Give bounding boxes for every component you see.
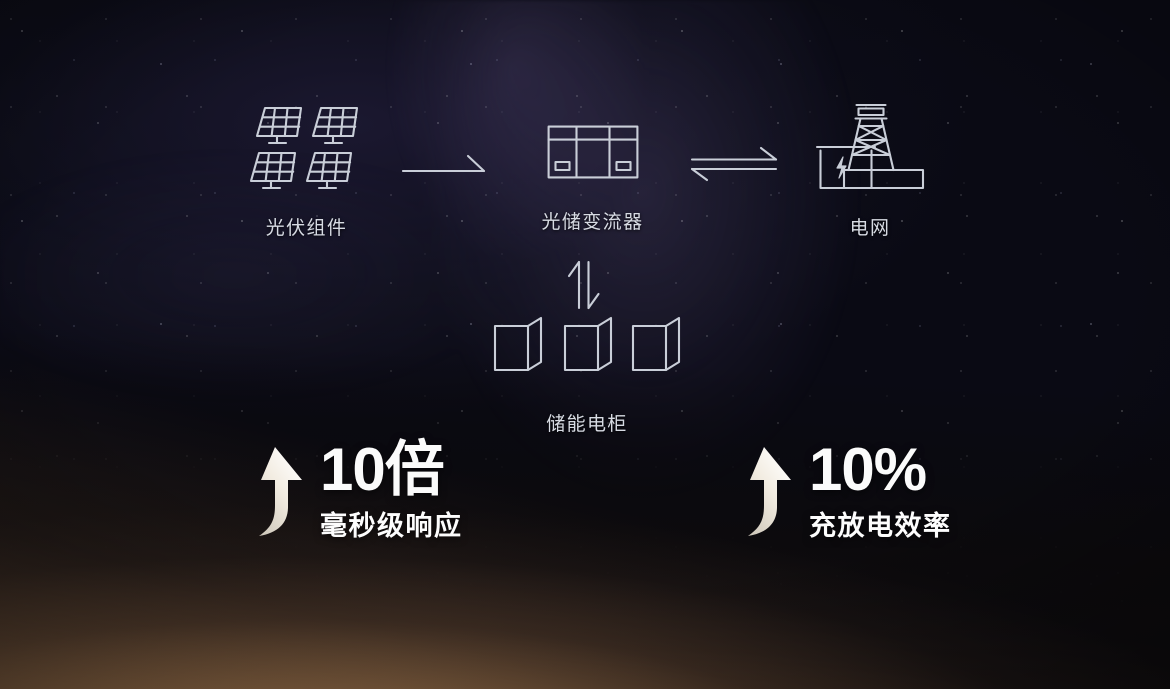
up-arrow-icon (244, 445, 308, 542)
arrow-bidirectional-icon (688, 169, 780, 186)
connector-inverter-to-grid (688, 146, 780, 187)
stat-efficiency-caption: 充放电效率 (809, 504, 952, 543)
arrow-right-icon (402, 165, 486, 182)
up-arrow-icon (733, 445, 797, 542)
diagram-node-inverter-label: 光储变流器 (505, 207, 680, 234)
stat-response-text: 10倍 毫秒级响应 (320, 441, 463, 543)
diagram-node-storage-label: 储能电柜 (487, 409, 687, 436)
diagram-node-pv-label: 光伏组件 (224, 213, 389, 240)
stat-efficiency[interactable]: 10% 充放电效率 (733, 441, 952, 543)
solar-panel-icon (224, 100, 389, 197)
stat-response-value: 10倍 (320, 441, 463, 499)
energy-system-diagram: 光伏组件 光储变流器 (0, 0, 1170, 689)
connector-pv-to-inverter (402, 152, 486, 183)
arrow-updown-icon (566, 299, 602, 316)
diagram-node-inverter[interactable]: 光储变流器 (505, 125, 680, 234)
power-grid-icon (795, 100, 945, 197)
connector-inverter-to-storage (566, 258, 602, 317)
diagram-node-grid-label: 电网 (795, 213, 945, 240)
stat-response-caption: 毫秒级响应 (320, 504, 463, 543)
diagram-node-pv[interactable]: 光伏组件 (224, 100, 389, 240)
battery-cabinet-icon (487, 316, 687, 379)
pcs-inverter-icon (505, 125, 680, 184)
highlight-stats: 10倍 毫秒级响应 10% 充 (0, 441, 1170, 556)
diagram-node-storage[interactable]: 储能电柜 (487, 316, 687, 436)
slide-canvas: 光伏组件 光储变流器 (0, 0, 1170, 689)
stat-efficiency-value: 10% (809, 441, 952, 499)
stat-efficiency-text: 10% 充放电效率 (809, 441, 952, 543)
stat-response[interactable]: 10倍 毫秒级响应 (244, 441, 463, 543)
diagram-node-grid[interactable]: 电网 (795, 100, 945, 240)
